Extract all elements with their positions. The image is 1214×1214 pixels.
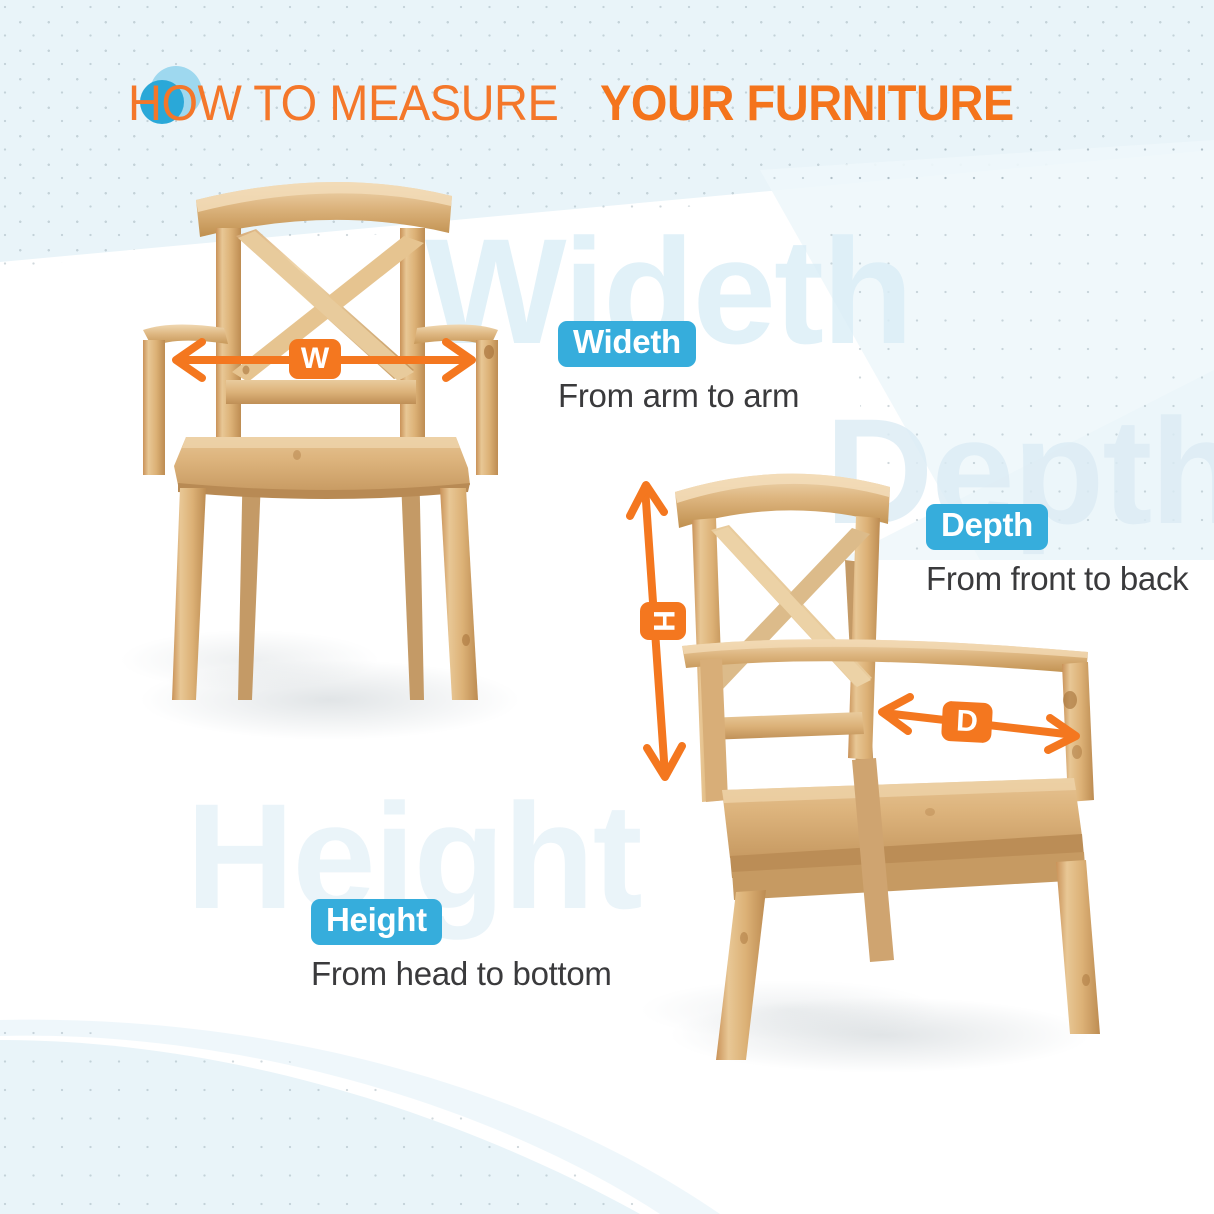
width-marker: W: [289, 339, 341, 379]
width-marker-label: W: [301, 344, 329, 374]
height-marker: H: [640, 602, 686, 640]
label-block-wideth: Wideth From arm to arm: [558, 321, 799, 415]
measurement-arrows: [0, 0, 1214, 1214]
badge-wideth: Wideth: [558, 321, 696, 367]
badge-height: Height: [311, 899, 442, 945]
depth-marker: D: [941, 701, 993, 744]
infographic-canvas: Wideth Depth Height: [0, 0, 1214, 1214]
badge-depth: Depth: [926, 504, 1048, 550]
caption-height: From head to bottom: [311, 955, 612, 993]
title-part-bold: YOUR FURNITURE: [600, 74, 1014, 132]
page-title: HOW TO MEASURE YOUR FURNITURE: [128, 74, 1040, 132]
label-block-depth: Depth From front to back: [926, 504, 1188, 598]
depth-marker-label: D: [955, 706, 978, 737]
title-part-light: HOW TO MEASURE: [128, 74, 558, 132]
caption-wideth: From arm to arm: [558, 377, 799, 415]
height-marker-label: H: [648, 610, 678, 632]
label-block-height: Height From head to bottom: [311, 899, 612, 993]
caption-depth: From front to back: [926, 560, 1188, 598]
